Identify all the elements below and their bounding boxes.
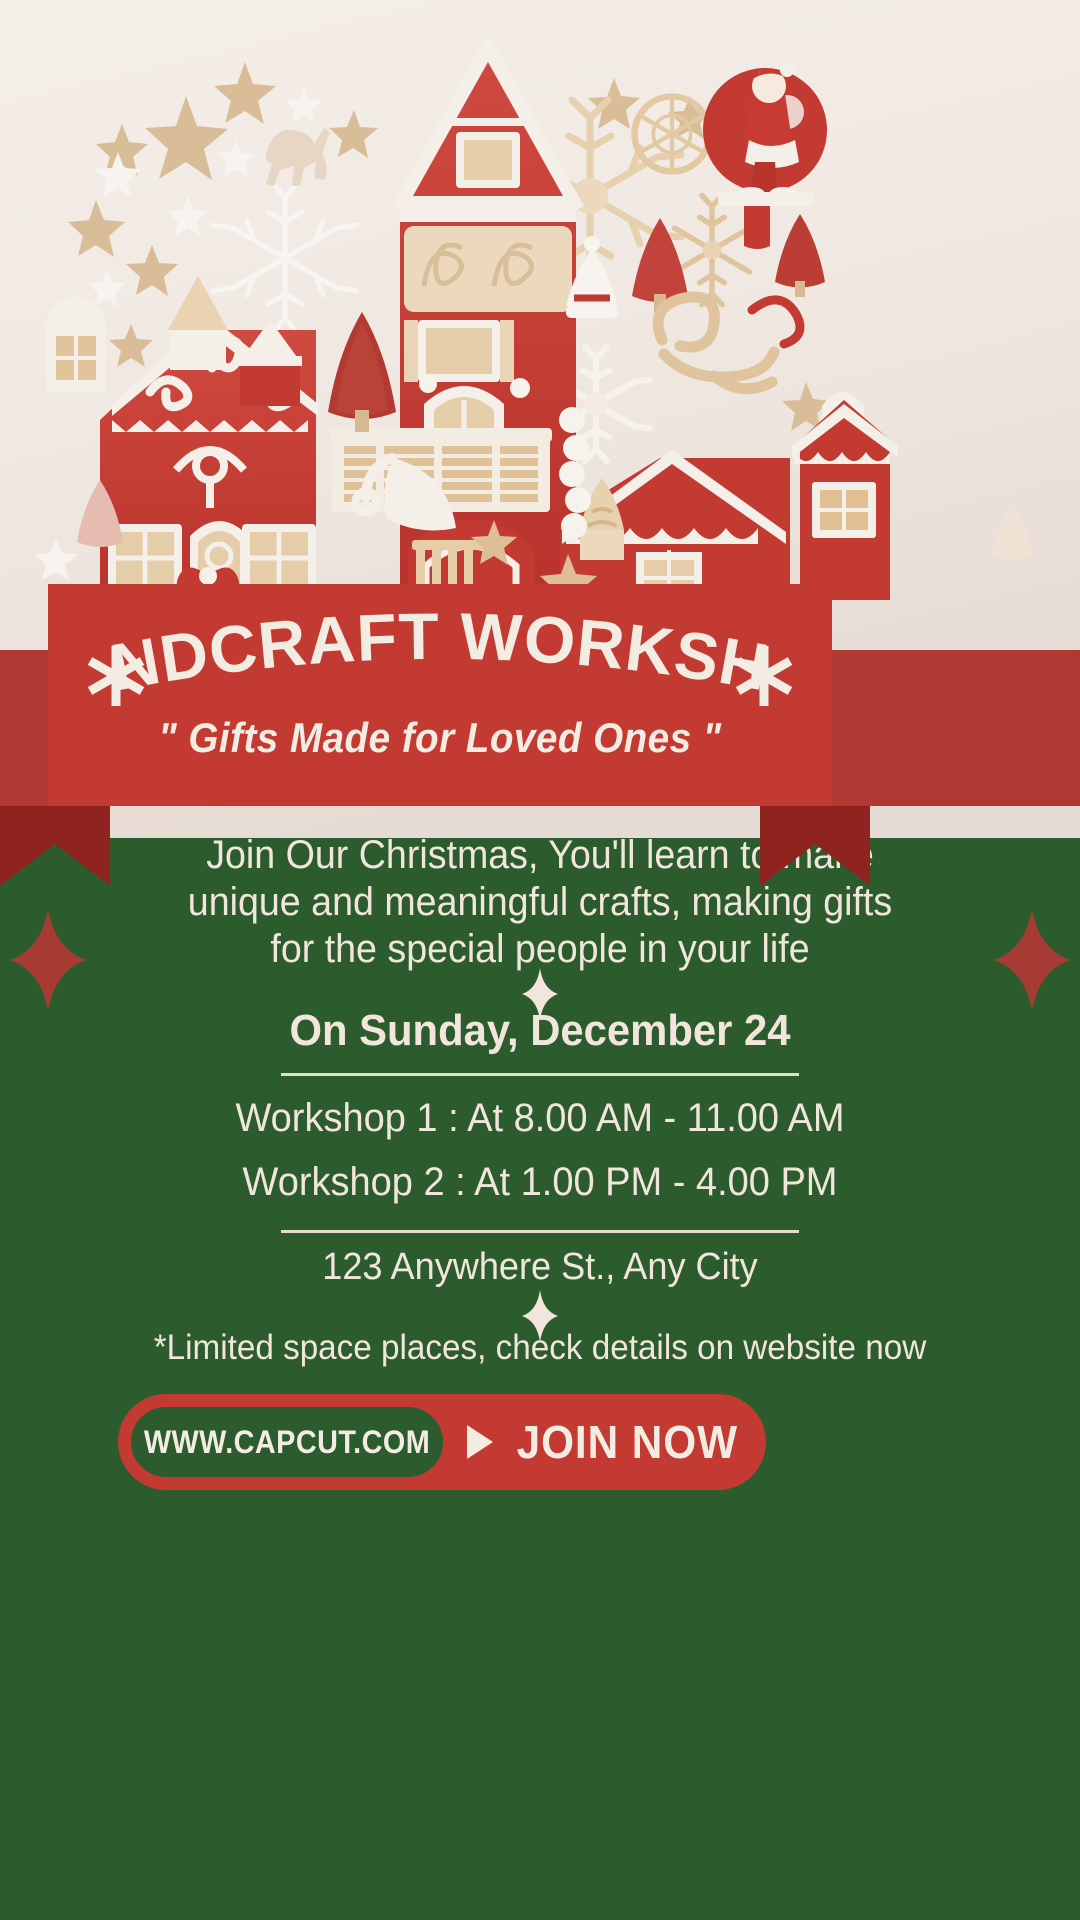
svg-text:HANDCRAFT WORKSHOP: HANDCRAFT WORKSHOP xyxy=(48,590,775,704)
main-title-text: HANDCRAFT WORKSHOP xyxy=(48,590,775,704)
cta-bar[interactable]: WWW.CAPCUT.COM JOIN NOW xyxy=(118,1394,766,1490)
ribbon-strip-right xyxy=(818,650,1080,806)
sparkle-icon xyxy=(10,910,86,1010)
divider-rule-bottom xyxy=(281,1230,799,1233)
website-url-pill[interactable]: WWW.CAPCUT.COM xyxy=(126,1402,448,1482)
limited-space-note: *Limited space places, check details on … xyxy=(27,1328,1053,1368)
banner-subtitle: " Gifts Made for Loved Ones " xyxy=(79,714,800,762)
intro-paragraph: Join Our Christmas, You'll learn to make… xyxy=(164,832,916,974)
content-panel: Join Our Christmas, You'll learn to make… xyxy=(0,838,1080,1920)
workshop-row-1: Workshop 1 : At 8.00 AM - 11.00 AM xyxy=(27,1096,1053,1141)
workshop-row-2: Workshop 2 : At 1.00 PM - 4.00 PM xyxy=(27,1160,1053,1205)
title-banner: HANDCRAFT WORKSHOP " Gifts Made for Love… xyxy=(48,584,832,806)
main-title: HANDCRAFT WORKSHOP xyxy=(48,590,832,710)
divider-rule-top xyxy=(281,1073,799,1076)
event-date: On Sunday, December 24 xyxy=(27,1006,1053,1056)
join-now-button[interactable]: JOIN NOW xyxy=(448,1415,766,1469)
sparkle-icon xyxy=(994,910,1070,1010)
event-address: 123 Anywhere St., Any City xyxy=(27,1246,1053,1289)
join-now-label: JOIN NOW xyxy=(516,1415,737,1469)
snowflake-asterisk-icon xyxy=(730,642,798,710)
play-triangle-icon xyxy=(467,1425,493,1459)
intro-line-2: unique and meaningful crafts, making gif… xyxy=(164,879,916,926)
website-url-text: WWW.CAPCUT.COM xyxy=(144,1424,430,1461)
intro-line-3: for the special people in your life xyxy=(164,926,916,973)
poster-root: HANDCRAFT WORKSHOP " Gifts Made for Love… xyxy=(0,0,1080,1920)
